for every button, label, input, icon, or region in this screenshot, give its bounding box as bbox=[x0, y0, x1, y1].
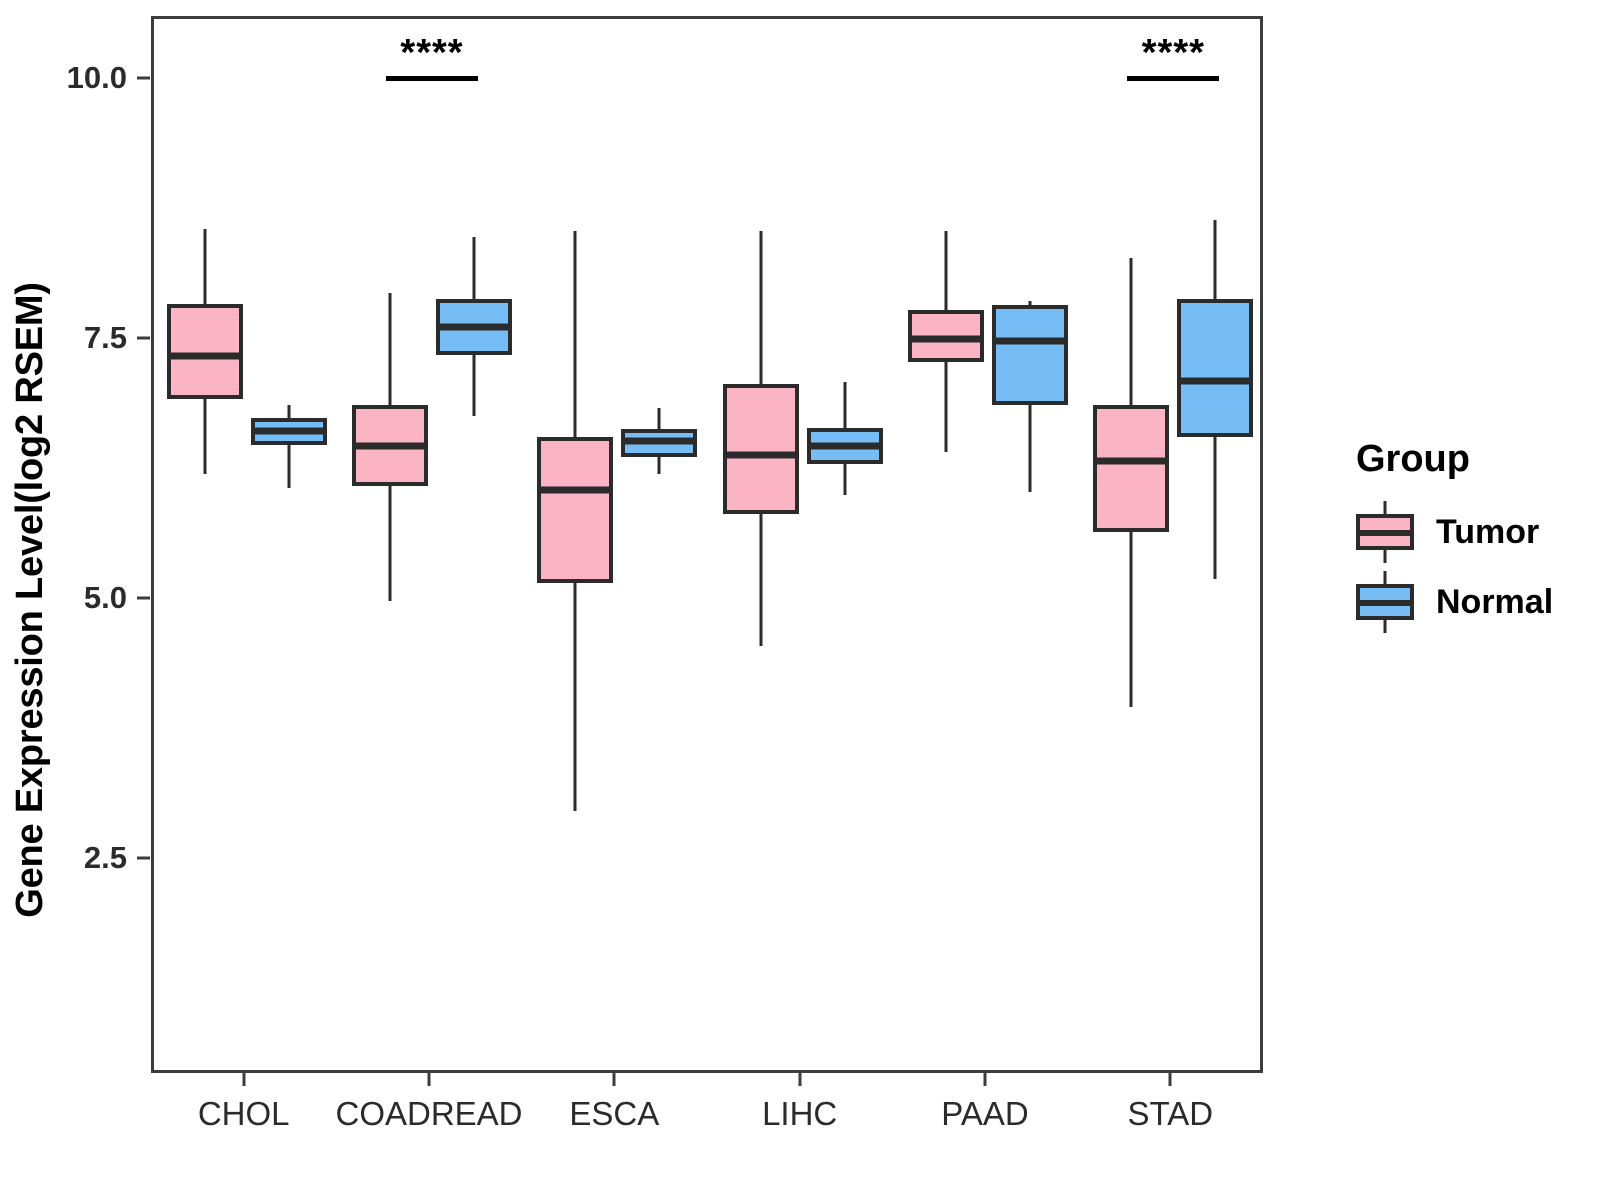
legend-key-median bbox=[1356, 600, 1414, 606]
x-axis-tick-label-stad: STAD bbox=[1128, 1095, 1214, 1133]
significance-bracket-line bbox=[386, 76, 478, 81]
legend-entry-tumor[interactable]: Tumor bbox=[1320, 501, 1580, 563]
y-axis-tick-label: 2.5 bbox=[0, 840, 127, 876]
significance-stars: **** bbox=[1142, 34, 1205, 72]
x-axis-tick-mark bbox=[428, 1073, 431, 1086]
significance-bracket-line bbox=[1127, 76, 1219, 81]
legend-key-median bbox=[1356, 530, 1414, 536]
legend-entry-normal[interactable]: Normal bbox=[1320, 571, 1580, 633]
boxplot-median bbox=[908, 335, 984, 342]
boxplot-median bbox=[621, 437, 697, 444]
x-axis-tick-label-coadread: COADREAD bbox=[335, 1095, 522, 1133]
y-axis-tick-label: 7.5 bbox=[0, 320, 127, 356]
x-axis-tick-mark bbox=[984, 1073, 987, 1086]
boxplot-median bbox=[723, 452, 799, 459]
x-axis-tick-mark bbox=[242, 1073, 245, 1086]
legend-key-swatch bbox=[1356, 571, 1414, 633]
legend-key-swatch bbox=[1356, 501, 1414, 563]
y-axis-tick-label: 5.0 bbox=[0, 580, 127, 616]
boxplot-median bbox=[537, 486, 613, 493]
y-axis-tick-mark bbox=[137, 77, 150, 80]
x-axis-tick-label-esca: ESCA bbox=[569, 1095, 659, 1133]
x-axis-tick-mark bbox=[798, 1073, 801, 1086]
significance-stars: **** bbox=[400, 34, 463, 72]
boxplot-box-stad-normal bbox=[1177, 299, 1253, 436]
y-axis-tick-mark bbox=[137, 857, 150, 860]
boxplot-box-paad-normal bbox=[992, 305, 1068, 406]
y-axis-tick-mark bbox=[137, 597, 150, 600]
y-axis-tick-label: 10.0 bbox=[0, 60, 127, 96]
boxplot-median bbox=[352, 443, 428, 450]
boxplot-box-lihc-tumor bbox=[723, 384, 799, 514]
x-axis-tick-label-lihc: LIHC bbox=[762, 1095, 837, 1133]
chart-root: Gene Expression Level(log2 RSEM) 2.55.07… bbox=[0, 0, 1600, 1200]
y-axis-tick-mark bbox=[137, 337, 150, 340]
x-axis-tick-mark bbox=[1169, 1073, 1172, 1086]
legend-label: Normal bbox=[1436, 583, 1553, 622]
legend: Group TumorNormal bbox=[1320, 438, 1580, 641]
legend-entries: TumorNormal bbox=[1320, 501, 1580, 633]
x-axis-tick-mark bbox=[613, 1073, 616, 1086]
legend-title: Group bbox=[1356, 438, 1580, 481]
boxplot-box-esca-tumor bbox=[537, 437, 613, 584]
x-axis-tick-label-chol: CHOL bbox=[198, 1095, 290, 1133]
x-axis-tick-label-paad: PAAD bbox=[941, 1095, 1028, 1133]
boxplot-median bbox=[807, 443, 883, 450]
boxplot-median bbox=[992, 338, 1068, 345]
legend-label: Tumor bbox=[1436, 513, 1539, 552]
plot-panel: ******** bbox=[151, 16, 1263, 1073]
boxplot-median bbox=[167, 352, 243, 359]
boxplot-median bbox=[436, 324, 512, 331]
boxplot-median bbox=[251, 428, 327, 435]
boxplot-median bbox=[1093, 457, 1169, 464]
boxplot-median bbox=[1177, 377, 1253, 384]
boxplot-box-stad-tumor bbox=[1093, 405, 1169, 532]
